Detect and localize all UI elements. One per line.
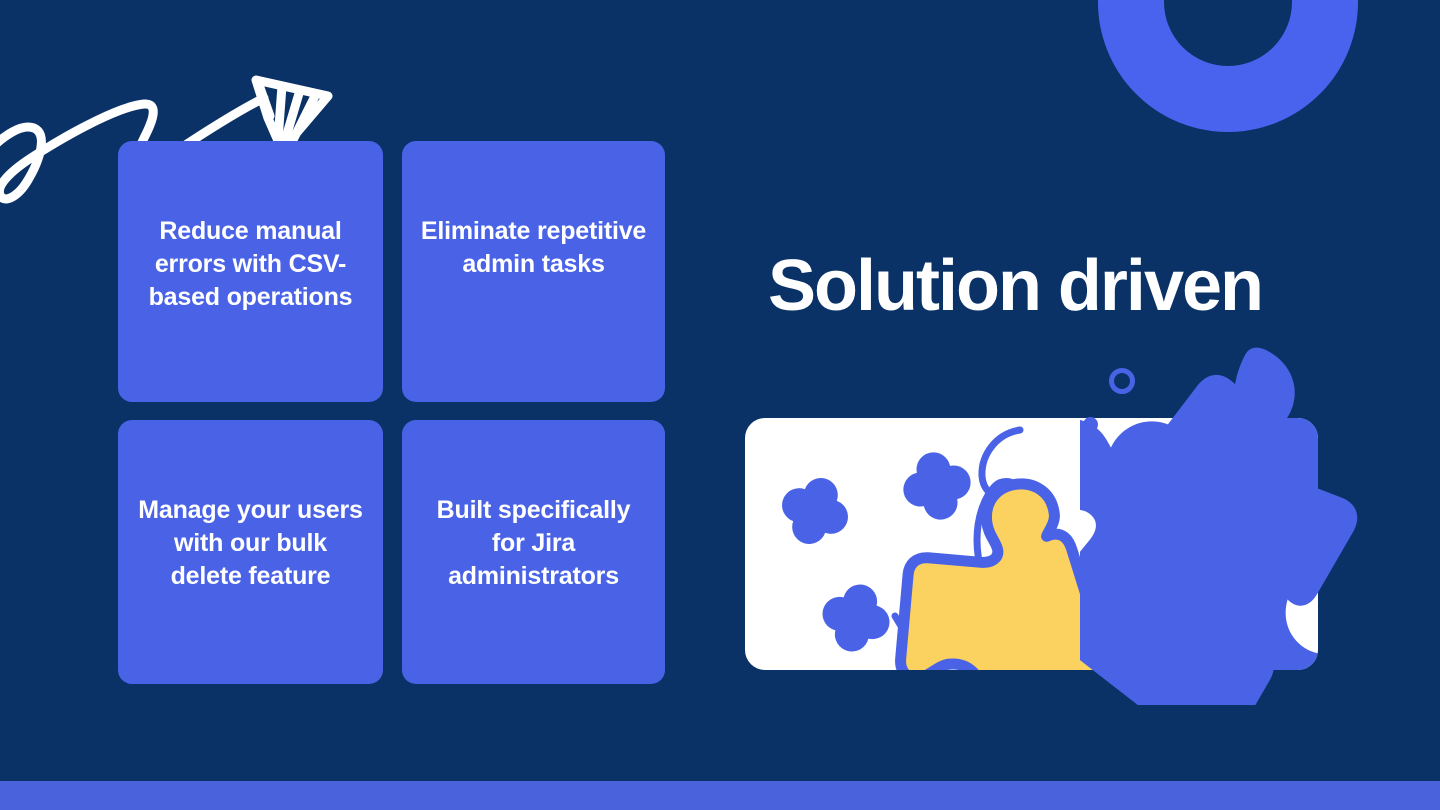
feature-card[interactable]: Manage your users with our bulk delete f… <box>118 420 383 684</box>
feature-card[interactable]: Eliminate repetitive admin tasks <box>402 141 665 402</box>
feature-card[interactable]: Reduce manual errors with CSV-based oper… <box>118 141 383 402</box>
feature-card-grid: Reduce manual errors with CSV-based oper… <box>118 141 665 684</box>
donut-ring-icon <box>1098 0 1358 132</box>
illustration-panel <box>745 418 1318 670</box>
bottom-accent-bar <box>0 781 1440 810</box>
feature-card-text: Eliminate repetitive admin tasks <box>420 215 647 281</box>
page-title: Solution driven <box>768 250 1262 322</box>
feature-card-text: Reduce manual errors with CSV-based oper… <box>136 215 365 313</box>
feature-card-text: Built specifically for Jira administrato… <box>420 494 647 592</box>
small-ring-icon <box>1109 368 1135 394</box>
slide-canvas: Reduce manual errors with CSV-based oper… <box>0 0 1440 810</box>
feature-card[interactable]: Built specifically for Jira administrato… <box>402 420 665 684</box>
illustration-graphics <box>745 418 1318 670</box>
feature-card-text: Manage your users with our bulk delete f… <box>136 494 365 592</box>
